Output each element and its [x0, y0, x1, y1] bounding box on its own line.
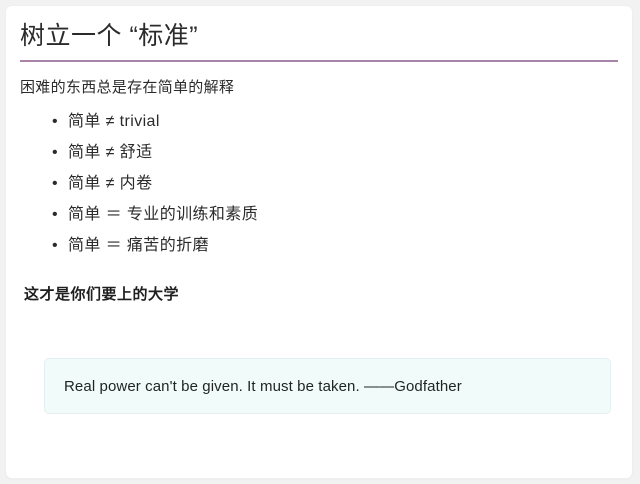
bullet-dot-icon: • — [52, 168, 58, 199]
list-item-label: 简单 ≠ trivial — [68, 113, 160, 130]
list-item: • 简单 ＝ 痛苦的折磨 — [20, 230, 618, 261]
bullet-dot-icon: • — [52, 137, 58, 168]
slide-card: 树立一个 “标准” 困难的东西总是存在简单的解释 • 简单 ≠ trivial … — [6, 6, 632, 478]
bullet-list: • 简单 ≠ trivial • 简单 ≠ 舒适 • 简单 ≠ 内卷 • 简单 … — [20, 99, 618, 261]
list-item-label: 简单 ＝ 痛苦的折磨 — [68, 237, 209, 254]
list-item-label: 简单 ≠ 内卷 — [68, 175, 152, 192]
bullet-dot-icon: • — [52, 199, 58, 230]
emphasis-statement: 这才是你们要上的大学 — [20, 261, 618, 304]
list-item: • 简单 ≠ 舒适 — [20, 137, 618, 168]
list-item: • 简单 ＝ 专业的训练和素质 — [20, 199, 618, 230]
list-item-label: 简单 ≠ 舒适 — [68, 144, 152, 161]
list-item: • 简单 ≠ 内卷 — [20, 168, 618, 199]
quote-text: Real power can't be given. It must be ta… — [45, 378, 462, 395]
page-title: 树立一个 “标准” — [20, 6, 618, 60]
lead-paragraph: 困难的东西总是存在简单的解释 — [20, 62, 618, 100]
quote-callout: Real power can't be given. It must be ta… — [44, 358, 611, 414]
bullet-dot-icon: • — [52, 106, 58, 137]
bullet-dot-icon: • — [52, 230, 58, 261]
list-item-label: 简单 ＝ 专业的训练和素质 — [68, 206, 258, 223]
list-item: • 简单 ≠ trivial — [20, 106, 618, 137]
